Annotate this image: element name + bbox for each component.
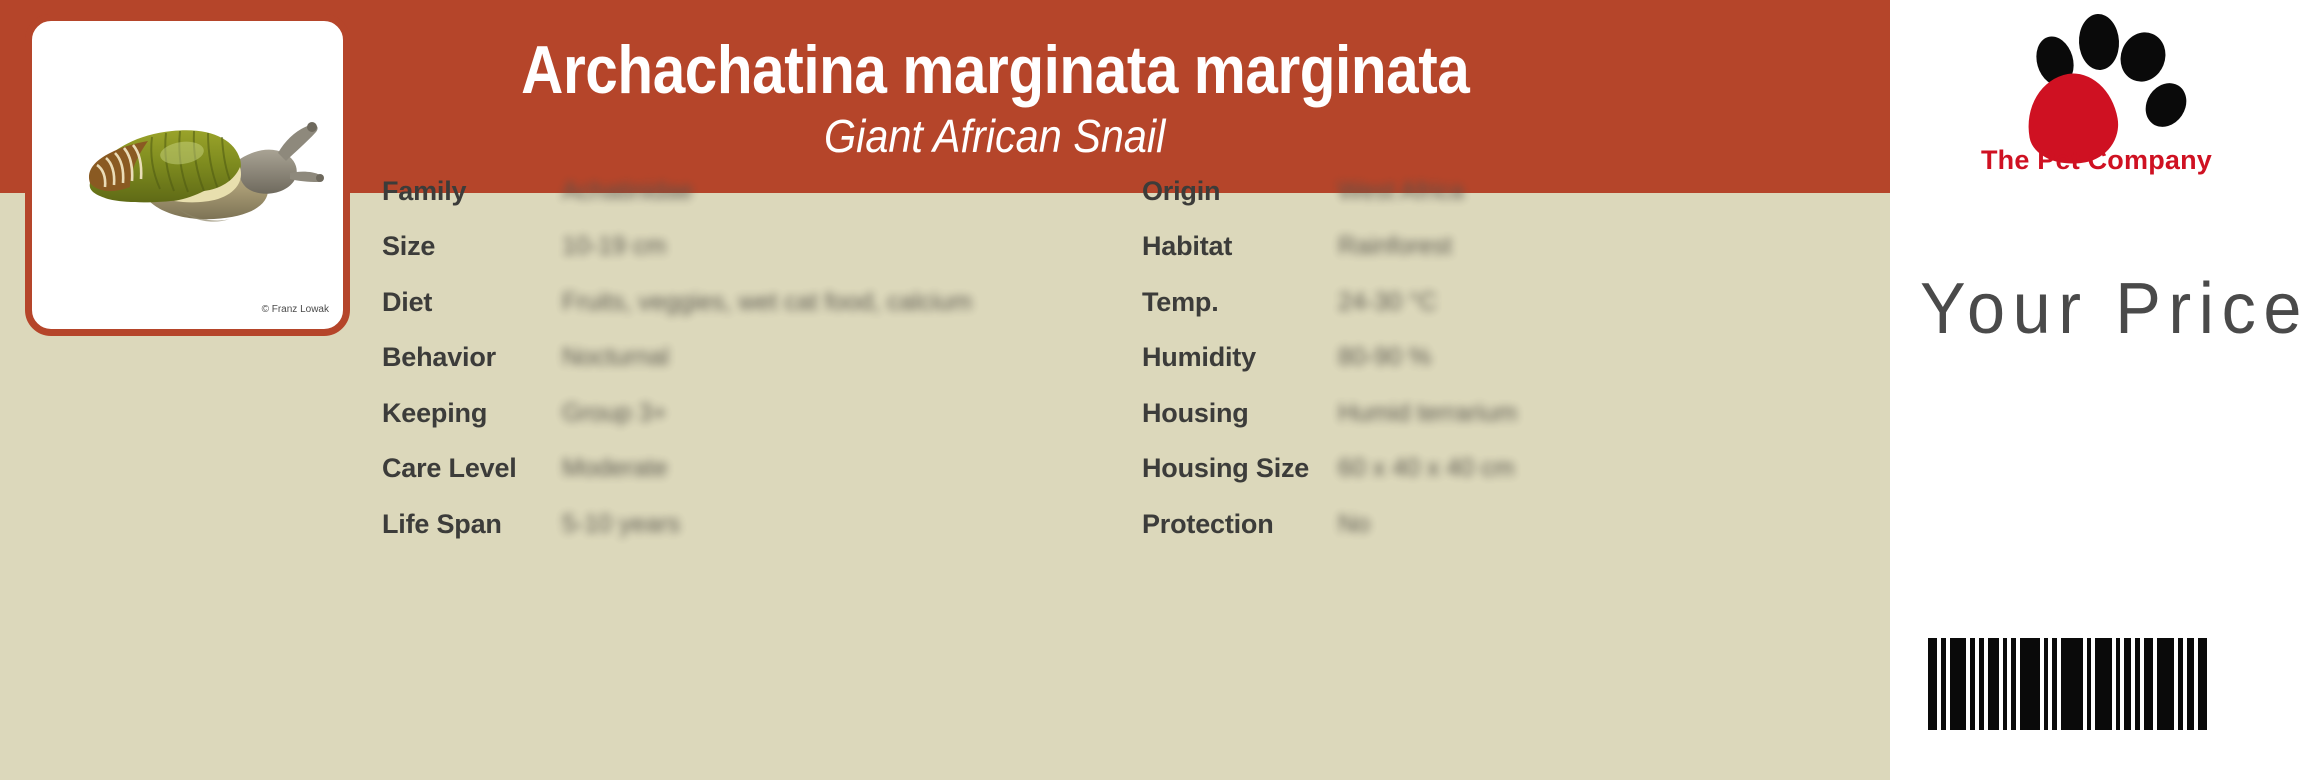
- barcode-bar: [1950, 638, 1966, 730]
- snail-illustration: [54, 109, 332, 239]
- barcode-bar: [2144, 638, 2153, 730]
- page-title: Archachatina marginata marginata: [521, 33, 1469, 107]
- barcode-bar: [1928, 638, 1937, 730]
- spec-row-diet: Diet Fruits, veggies, wet cat food, calc…: [382, 282, 972, 322]
- product-barcode: [1928, 638, 2207, 730]
- spec-row-behavior: Behavior Nocturnal: [382, 337, 669, 377]
- spec-value: 5-10 years: [562, 510, 680, 539]
- spec-label: Care Level: [382, 453, 562, 484]
- spec-row-housing: Housing Humid terrarium: [1142, 393, 1517, 433]
- barcode-bar: [2157, 638, 2174, 730]
- spec-row-housing-size: Housing Size 60 x 40 x 40 cm: [1142, 448, 1514, 488]
- spec-label: Protection: [1142, 509, 1338, 540]
- barcode-bar: [2124, 638, 2131, 730]
- spec-value: 60 x 40 x 40 cm: [1338, 454, 1514, 483]
- price-label: Your Price: [1920, 270, 2303, 348]
- spec-label: Housing Size: [1142, 453, 1338, 484]
- spec-row-humidity: Humidity 80-90 %: [1142, 337, 1431, 377]
- paw-toe-icon: [2137, 75, 2194, 134]
- spec-value: Rainforest: [1338, 232, 1452, 261]
- spec-row-family: Family Achatinidae: [382, 171, 693, 211]
- spec-value: West Africa: [1338, 177, 1464, 206]
- spec-row-keeping: Keeping Group 3+: [382, 393, 667, 433]
- photo-credit: © Franz Lowak: [262, 304, 329, 315]
- price-panel: The Pet Company Your Price: [1890, 0, 2303, 780]
- spec-label: Family: [382, 176, 562, 207]
- species-info-card: Archachatina marginata marginata Giant A…: [0, 0, 2303, 780]
- company-logo: The Pet Company: [1890, 6, 2303, 196]
- company-name: The Pet Company: [1890, 145, 2303, 176]
- spec-label: Origin: [1142, 176, 1338, 207]
- spec-value: No: [1338, 510, 1370, 539]
- spec-value: Moderate: [562, 454, 668, 483]
- spec-label: Temp.: [1142, 287, 1338, 318]
- spec-column-right: Origin West Africa Habitat Rainforest Te…: [1142, 193, 1842, 780]
- species-photo: © Franz Lowak: [32, 21, 343, 329]
- paw-toe-icon: [2113, 26, 2173, 89]
- spec-row-protection: Protection No: [1142, 504, 1370, 544]
- spec-column-left: Family Achatinidae Size 10-19 cm Diet Fr…: [382, 193, 1142, 780]
- spec-row-origin: Origin West Africa: [1142, 171, 1464, 211]
- barcode-bar: [1988, 638, 1999, 730]
- spec-value: Fruits, veggies, wet cat food, calcium: [562, 288, 972, 317]
- species-photo-card: © Franz Lowak: [25, 14, 350, 336]
- paw-toe-icon: [2077, 13, 2120, 71]
- spec-label: Life Span: [382, 509, 562, 540]
- paw-print-icon: [2007, 10, 2187, 138]
- barcode-bar: [2187, 638, 2194, 730]
- page-subtitle: Giant African Snail: [824, 111, 1165, 161]
- barcode-bar: [2061, 638, 2083, 730]
- spec-row-life-span: Life Span 5-10 years: [382, 504, 680, 544]
- spec-row-size: Size 10-19 cm: [382, 226, 666, 266]
- barcode-bar: [2095, 638, 2112, 730]
- spec-label: Size: [382, 231, 562, 262]
- spec-label: Humidity: [1142, 342, 1338, 373]
- spec-label: Keeping: [382, 398, 562, 429]
- spec-value: Group 3+: [562, 399, 667, 428]
- spec-row-habitat: Habitat Rainforest: [1142, 226, 1452, 266]
- spec-row-care-level: Care Level Moderate: [382, 448, 668, 488]
- spec-label: Housing: [1142, 398, 1338, 429]
- spec-label: Habitat: [1142, 231, 1338, 262]
- spec-value: 80-90 %: [1338, 343, 1431, 372]
- spec-value: Nocturnal: [562, 343, 669, 372]
- spec-row-temp: Temp. 24-30 °C: [1142, 282, 1437, 322]
- spec-value: 24-30 °C: [1338, 288, 1437, 317]
- barcode-bar: [2020, 638, 2040, 730]
- header-text-block: Archachatina marginata marginata Giant A…: [330, 0, 1660, 193]
- barcode-bar: [2198, 638, 2207, 730]
- spec-value: Achatinidae: [562, 177, 693, 206]
- spec-label: Behavior: [382, 342, 562, 373]
- spec-value: 10-19 cm: [562, 232, 666, 261]
- spec-value: Humid terrarium: [1338, 399, 1517, 428]
- spec-label: Diet: [382, 287, 562, 318]
